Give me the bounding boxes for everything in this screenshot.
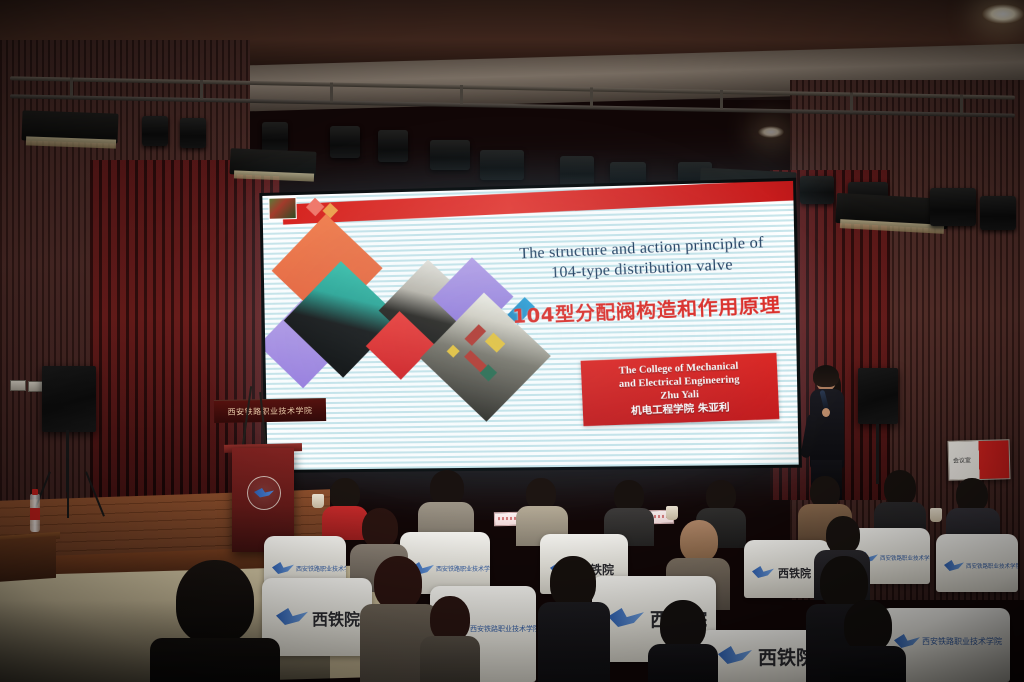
seat-logo-icon [752,566,774,578]
school-crest-icon [247,476,281,510]
seat-with-cover: 西安铁路职业技术学院 [936,534,1018,592]
audience-person [420,596,480,682]
seat-cover-subtext: 西安铁路职业技术学院 [880,554,930,562]
wall-sign-text: 会议室 [953,455,971,464]
person-head [826,516,860,554]
stage-light-fixture [142,116,168,146]
seat-cover-subtext: 西安铁路职业技术学院 [922,636,1002,647]
wall-outlet [10,380,26,391]
audience-person [648,600,718,682]
wall-room-sign: 会议室 [947,439,1010,481]
truss-post [850,92,853,112]
seat-logo-icon [718,646,752,664]
stage-banner-text: 西安铁路职业技术学院 [227,405,312,417]
person-head [680,520,718,562]
projection-screen[interactable]: The structure and action principle of 10… [259,178,802,473]
stage-banner-sign: 西安铁路职业技术学院 [214,398,326,423]
presentation-slide: The structure and action principle of 10… [262,181,798,470]
seat-logo-icon [944,560,964,571]
pa-speaker-right [858,368,898,424]
stage-light-fixture [800,176,834,204]
person-torso [538,602,610,682]
seat-cover-subtext: 西安铁路职业技术学院 [436,564,490,573]
audience-person [830,600,906,682]
stage-light-fixture [980,196,1016,230]
seat-cover-subtext: 西安铁路职业技术学院 [966,562,1018,570]
stage-light-fixture [930,188,976,226]
truss-post [330,82,333,102]
seat-cover-subtext: 西安铁路职业技术学院 [296,564,346,573]
person-head [844,600,892,652]
slide-credit-box: The College of Mechanical and Electrical… [581,353,780,426]
pa-speaker-left [42,366,96,432]
person-head [956,478,988,512]
stage-light-fixture [480,150,524,180]
person-head [176,560,254,644]
crest-bird-mark [254,488,274,498]
stage-light-fixture [560,156,594,186]
stage-light-fixture [330,126,360,158]
person-torso [420,636,480,682]
person-head [660,600,706,650]
audience-person [150,560,280,682]
ceiling-downlight-icon [982,4,1024,24]
drink-cup [930,508,942,522]
presenter-hair [813,365,839,387]
truss-post [460,85,463,105]
person-head [884,470,916,506]
stage-light-fixture [430,140,470,170]
person-torso [830,646,906,682]
lecture-hall-photo: The structure and action principle of 10… [0,0,1024,682]
water-bottle [30,494,40,532]
side-table [0,536,56,582]
truss-post [200,80,203,100]
person-torso [150,638,280,682]
stage-light-fixture [262,122,288,152]
person-head [550,556,596,608]
seat-logo-icon [276,608,308,625]
person-head [362,508,398,548]
slide-red-banner [282,181,795,225]
truss-post [720,90,723,110]
truss-post [70,78,73,98]
slide-title-chinese: 104型分配阀构造和作用原理 [505,290,787,330]
stage-light-fixture [180,118,206,148]
bottle-cap [32,489,38,495]
stage-light-fixture [378,130,408,162]
ceiling-downlight-icon [758,126,784,138]
slide-corner-thumbnail [268,197,296,220]
bottle-label [30,508,40,520]
audience-person [538,556,610,682]
person-head [430,470,464,506]
drink-cup [666,506,678,520]
truss-post [960,95,963,115]
speaker-tripod-left [40,470,96,518]
truss-post [590,87,593,107]
person-head [374,556,422,610]
slide-title-english: The structure and action principle of 10… [504,232,780,286]
person-torso [648,644,718,682]
presenter-hand [822,408,830,417]
seat-cover-brand: 西铁院 [312,606,360,630]
seat-logo-icon [608,608,644,627]
